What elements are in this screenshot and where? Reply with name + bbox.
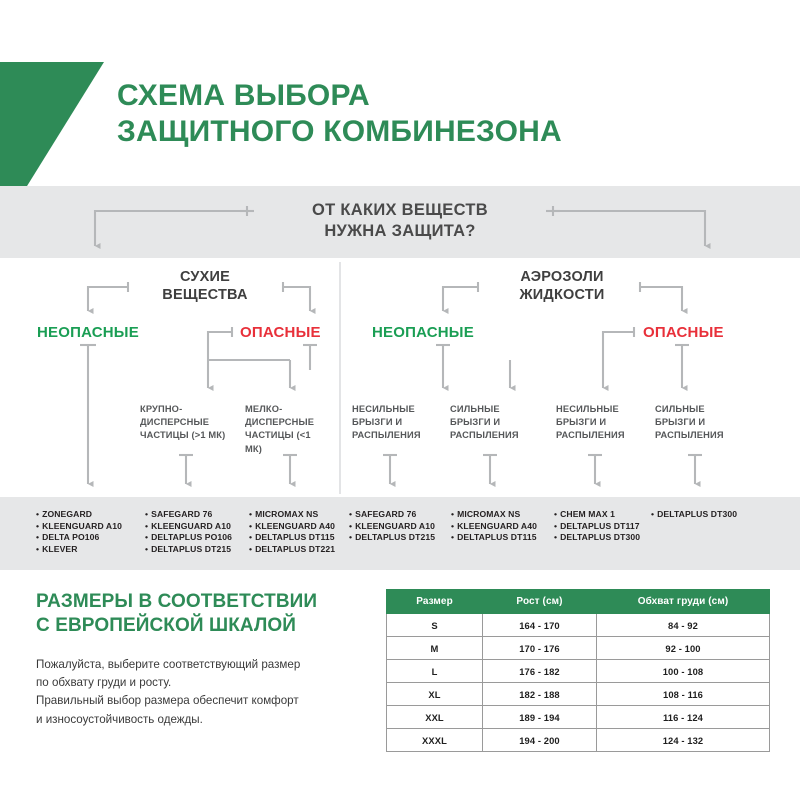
product-item: DELTAPLUS DT300 [651, 509, 761, 521]
size-table-cell-chest: 84 - 92 [597, 614, 770, 637]
footer-title-line2: С ЕВРОПЕЙСКОЙ ШКАЛОЙ [36, 614, 366, 638]
size-table-row: L176 - 182100 - 108 [387, 660, 770, 683]
product-item: DELTAPLUS DT115 [451, 532, 556, 544]
footer-body-line2: по обхвату груди и росту. [36, 674, 371, 692]
size-table-header-size: Размер [387, 590, 483, 614]
product-item: KLEENGUARD A40 [451, 521, 556, 533]
product-item: MICROMAX NS [249, 509, 354, 521]
description-light-splash-2: НЕСИЛЬНЫЕ БРЫЗГИ И РАСПЫЛЕНИЯ [556, 403, 646, 443]
footer-body-line4: и износоустойчивость одежды. [36, 711, 371, 729]
product-item: DELTAPLUS DT115 [249, 532, 354, 544]
product-column-5: MICROMAX NSKLEENGUARD A40DELTAPLUS DT115 [451, 509, 556, 544]
size-table-header-height: Рост (см) [483, 590, 597, 614]
size-table-cell-height: 194 - 200 [483, 729, 597, 752]
product-item: DELTAPLUS DT300 [554, 532, 654, 544]
category-dry-substances: СУХИЕ ВЕЩЕСТВА [140, 268, 270, 304]
header-section: СХЕМА ВЫБОРА ЗАЩИТНОГО КОМБИНЕЗОНА [0, 0, 800, 186]
product-item: KLEENGUARD A10 [349, 521, 449, 533]
size-table-row: XL182 - 188108 - 116 [387, 683, 770, 706]
size-table-cell-height: 170 - 176 [483, 637, 597, 660]
description-coarse-particles: КРУПНО-ДИСПЕРСНЫЕ ЧАСТИЦЫ (>1 МК) [140, 403, 240, 443]
category-aerosol-line1: АЭРОЗОЛИ [520, 269, 603, 285]
size-table-cell-chest: 116 - 124 [597, 706, 770, 729]
size-table-header-chest: Обхват груди (см) [597, 590, 770, 614]
description-fine-particles: МЕЛКО-ДИСПЕРСНЫЕ ЧАСТИЦЫ (<1 МК) [245, 403, 330, 456]
product-item: SAFEGARD 76 [145, 509, 255, 521]
size-table-body: S164 - 17084 - 92M170 - 17692 - 100L176 … [387, 614, 770, 752]
size-table-cell-size: XXL [387, 706, 483, 729]
footer-body-line1: Пожалуйста, выберите соответствующий раз… [36, 656, 371, 674]
description-heavy-splash-1: СИЛЬНЫЕ БРЫЗГИ И РАСПЫЛЕНИЯ [450, 403, 535, 443]
size-table-row: XXL189 - 194116 - 124 [387, 706, 770, 729]
size-table-cell-size: M [387, 637, 483, 660]
band-branches [0, 258, 800, 497]
infographic-page: СХЕМА ВЫБОРА ЗАЩИТНОГО КОМБИНЕЗОНА [0, 0, 800, 800]
product-column-4: SAFEGARD 76KLEENGUARD A10DELTAPLUS DT215 [349, 509, 449, 544]
risk-label-dry-safe: НЕОПАСНЫЕ [37, 324, 139, 341]
size-table-cell-size: S [387, 614, 483, 637]
size-table-row: S164 - 17084 - 92 [387, 614, 770, 637]
size-table-cell-size: XL [387, 683, 483, 706]
size-table-cell-chest: 100 - 108 [597, 660, 770, 683]
category-dry-line2: ВЕЩЕСТВА [140, 286, 270, 304]
product-item: KLEENGUARD A10 [145, 521, 255, 533]
product-item: CHEM MAX 1 [554, 509, 654, 521]
footer-title-line1: РАЗМЕРЫ В СООТВЕТСТВИИ [36, 591, 317, 612]
product-item: KLEENGUARD A40 [249, 521, 354, 533]
product-item: DELTAPLUS DT215 [145, 544, 255, 556]
product-item: DELTAPLUS DT215 [349, 532, 449, 544]
page-title-line1: СХЕМА ВЫБОРА [117, 79, 370, 112]
size-table-header-row: Размер Рост (см) Обхват груди (см) [387, 590, 770, 614]
size-table-cell-chest: 124 - 132 [597, 729, 770, 752]
root-question-line2: НУЖНА ЗАЩИТА? [250, 221, 550, 242]
size-table-row: M170 - 17692 - 100 [387, 637, 770, 660]
product-column-7: DELTAPLUS DT300 [651, 509, 761, 521]
product-item: DELTAPLUS DT117 [554, 521, 654, 533]
description-heavy-splash-2: СИЛЬНЫЕ БРЫЗГИ И РАСПЫЛЕНИЯ [655, 403, 745, 443]
root-question: ОТ КАКИХ ВЕЩЕСТВ НУЖНА ЗАЩИТА? [250, 200, 550, 242]
page-title-line2: ЗАЩИТНОГО КОМБИНЕЗОНА [117, 114, 757, 150]
product-item: ZONEGARD [36, 509, 146, 521]
product-item: DELTAPLUS PO106 [145, 532, 255, 544]
size-table-cell-chest: 108 - 116 [597, 683, 770, 706]
product-item: KLEENGUARD A10 [36, 521, 146, 533]
size-table-cell-height: 164 - 170 [483, 614, 597, 637]
size-table: Размер Рост (см) Обхват груди (см) S164 … [386, 589, 770, 752]
product-item: SAFEGARD 76 [349, 509, 449, 521]
product-column-1: ZONEGARDKLEENGUARD A10DELTA PO106KLEVER [36, 509, 146, 555]
product-item: MICROMAX NS [451, 509, 556, 521]
size-table-cell-size: L [387, 660, 483, 683]
size-table-row: XXXL194 - 200124 - 132 [387, 729, 770, 752]
size-table-cell-height: 176 - 182 [483, 660, 597, 683]
product-column-3: MICROMAX NSKLEENGUARD A40DELTAPLUS DT115… [249, 509, 354, 555]
green-wedge-decoration [0, 62, 104, 186]
page-title: СХЕМА ВЫБОРА ЗАЩИТНОГО КОМБИНЕЗОНА [117, 78, 757, 150]
category-aerosol-line2: ЖИДКОСТИ [487, 286, 637, 304]
footer-body: Пожалуйста, выберите соответствующий раз… [36, 656, 371, 729]
size-table-cell-chest: 92 - 100 [597, 637, 770, 660]
footer-title: РАЗМЕРЫ В СООТВЕТСТВИИ С ЕВРОПЕЙСКОЙ ШКА… [36, 590, 366, 638]
root-question-line1: ОТ КАКИХ ВЕЩЕСТВ [312, 201, 488, 219]
risk-label-dry-hazardous: ОПАСНЫЕ [240, 324, 321, 341]
category-dry-line1: СУХИЕ [180, 269, 230, 285]
size-table-cell-size: XXXL [387, 729, 483, 752]
risk-label-aerosol-safe: НЕОПАСНЫЕ [372, 324, 474, 341]
footer-body-line3: Правильный выбор размера обеспечит комфо… [36, 692, 371, 710]
product-item: KLEVER [36, 544, 146, 556]
size-table-cell-height: 182 - 188 [483, 683, 597, 706]
size-table-cell-height: 189 - 194 [483, 706, 597, 729]
category-aerosols-liquids: АЭРОЗОЛИ ЖИДКОСТИ [487, 268, 637, 304]
product-column-2: SAFEGARD 76KLEENGUARD A10DELTAPLUS PO106… [145, 509, 255, 555]
product-item: DELTAPLUS DT221 [249, 544, 354, 556]
product-column-6: CHEM MAX 1DELTAPLUS DT117DELTAPLUS DT300 [554, 509, 654, 544]
product-item: DELTA PO106 [36, 532, 146, 544]
description-light-splash-1: НЕСИЛЬНЫЕ БРЫЗГИ И РАСПЫЛЕНИЯ [352, 403, 442, 443]
risk-label-aerosol-hazardous: ОПАСНЫЕ [643, 324, 724, 341]
